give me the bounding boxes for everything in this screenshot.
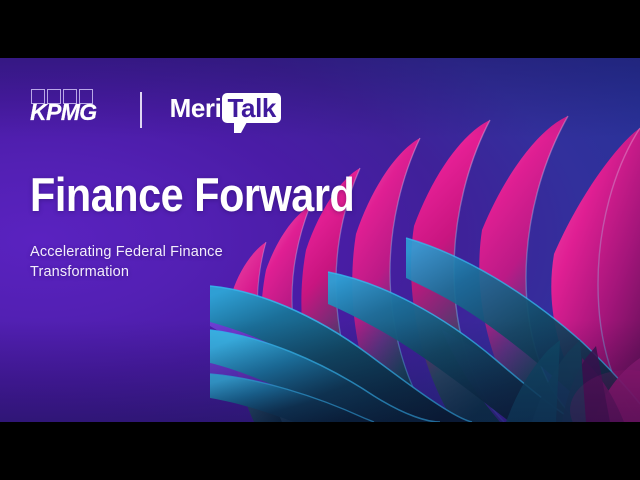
headline-block: Finance Forward Accelerating Federal Fin… [30,170,360,282]
slide-subtitle: Accelerating Federal Finance Transformat… [30,242,275,282]
logo-divider [140,92,142,128]
kpmg-wordmark: KPMG [30,101,97,124]
meritalk-speech-bubble-icon: Talk [222,93,281,123]
meritalk-logo: Meri Talk [170,89,281,131]
logo-bar: KPMG Meri Talk [30,88,281,132]
video-frame: KPMG Meri Talk Finance Forward Accelerat… [0,0,640,480]
bottom-letterbox [0,422,640,480]
speech-bubble-tail-icon [234,122,247,133]
kpmg-logo: KPMG [30,89,106,131]
presentation-slide: KPMG Meri Talk Finance Forward Accelerat… [0,58,640,422]
slide-title: Finance Forward [30,170,320,220]
top-letterbox [0,0,640,58]
meritalk-talk-text: Talk [227,94,276,122]
meritalk-meri-text: Meri [170,93,222,123]
